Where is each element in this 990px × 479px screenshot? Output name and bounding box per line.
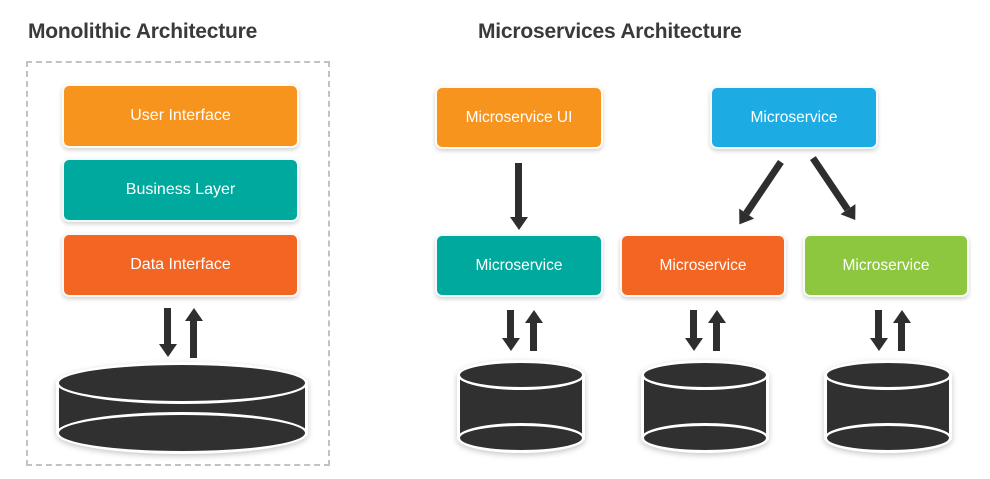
microservice-box-green[interactable]: Microservice xyxy=(803,234,969,297)
service3-db-arrow-down-shaft xyxy=(875,310,882,338)
monolith-arrow-up-shaft xyxy=(190,321,197,358)
microservice-top-box[interactable]: Microservice xyxy=(710,86,878,149)
database-top-ellipse xyxy=(457,360,585,390)
microservice-box-label: Microservice xyxy=(751,109,838,127)
service2-db-arrow-down-shaft xyxy=(690,310,697,338)
monolith-layer-label: User Interface xyxy=(130,107,230,125)
database-bottom-ellipse xyxy=(457,423,585,453)
service1-db-arrow-down-shaft xyxy=(507,310,514,338)
microservice-database-1[interactable] xyxy=(457,360,585,453)
monolith-layer-user-interface[interactable]: User Interface xyxy=(62,84,299,148)
microservice-box-orange[interactable]: Microservice xyxy=(620,234,786,297)
ui-to-service-arrow-head xyxy=(510,217,528,230)
database-bottom-ellipse xyxy=(824,423,952,453)
monolith-arrow-up-head xyxy=(185,308,203,321)
database-top-ellipse xyxy=(824,360,952,390)
monolith-layer-business-layer[interactable]: Business Layer xyxy=(62,158,299,222)
monolithic-title: Monolithic Architecture xyxy=(28,20,257,44)
database-top-ellipse xyxy=(56,362,308,404)
microservices-title: Microservices Architecture xyxy=(478,20,742,44)
microservice-box-label: Microservice xyxy=(476,257,563,275)
microservice-box-label: Microservice UI xyxy=(466,109,573,127)
service3-db-arrow-up-shaft xyxy=(898,323,905,351)
service1-db-arrow-up-shaft xyxy=(530,323,537,351)
microservice-box-teal[interactable]: Microservice xyxy=(435,234,603,297)
database-bottom-ellipse xyxy=(641,423,769,453)
service2-db-arrow-down-head xyxy=(685,338,703,351)
service2-db-arrow-up-head xyxy=(708,310,726,323)
service3-db-arrow-up-head xyxy=(893,310,911,323)
database-bottom-ellipse xyxy=(56,412,308,454)
service2-db-arrow-up-shaft xyxy=(713,323,720,351)
monolith-layer-data-interface[interactable]: Data Interface xyxy=(62,233,299,297)
service1-db-arrow-down-head xyxy=(502,338,520,351)
database-top-ellipse xyxy=(641,360,769,390)
monolith-arrow-down-shaft xyxy=(164,308,171,344)
monolith-layer-label: Business Layer xyxy=(126,181,235,199)
ui-to-service-arrow-shaft xyxy=(515,163,522,217)
microservice-database-2[interactable] xyxy=(641,360,769,453)
service1-db-arrow-up-head xyxy=(525,310,543,323)
service3-db-arrow-down-head xyxy=(870,338,888,351)
microservice-box-label: Microservice xyxy=(660,257,747,275)
monolith-arrow-down-head xyxy=(159,344,177,357)
monolith-layer-label: Data Interface xyxy=(130,256,231,274)
diagram-canvas: Monolithic Architecture Microservices Ar… xyxy=(0,0,990,479)
microservice-ui-box[interactable]: Microservice UI xyxy=(435,86,603,149)
microservice-database-3[interactable] xyxy=(824,360,952,453)
microservice-box-label: Microservice xyxy=(843,257,930,275)
monolith-database[interactable] xyxy=(56,362,308,454)
